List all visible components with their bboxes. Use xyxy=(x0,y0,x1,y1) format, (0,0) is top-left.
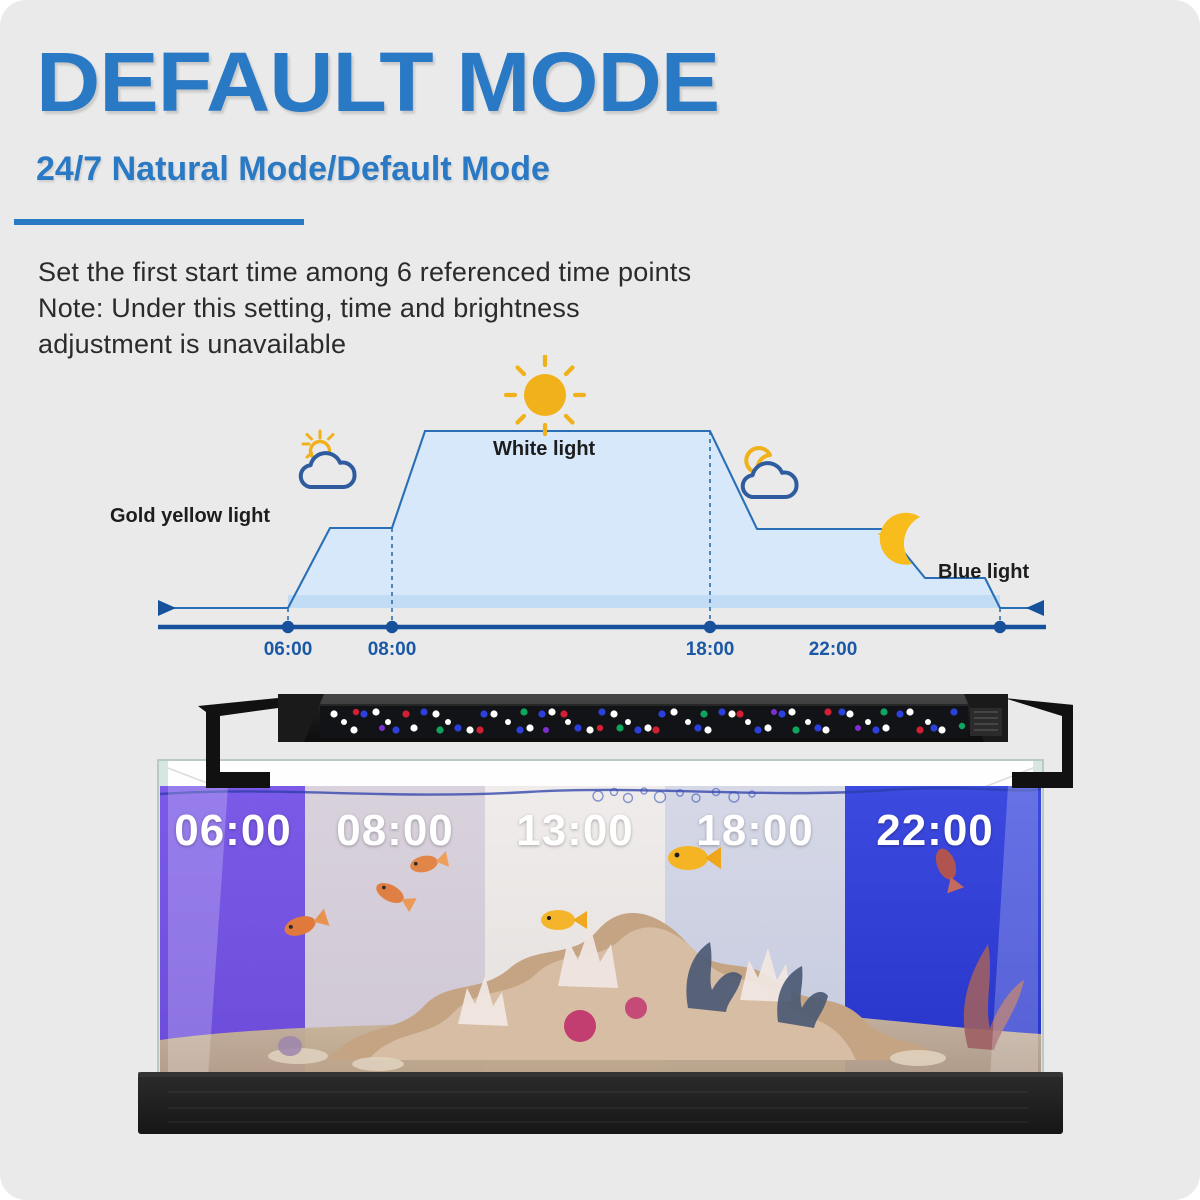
bracket-right xyxy=(1004,698,1073,788)
description-block: Set the first start time among 6 referen… xyxy=(38,255,898,363)
water-lighting-bands xyxy=(160,786,1041,1078)
tank-base-stand xyxy=(138,1072,1063,1134)
bracket-left xyxy=(198,698,278,788)
area-base-strip xyxy=(288,595,1000,608)
sun-icon xyxy=(506,356,584,434)
tick-dot-end xyxy=(994,621,1006,633)
tick-dot-0800 xyxy=(386,621,398,633)
chart-annotation-gold-yellow-light: Gold yellow light xyxy=(110,505,270,528)
infographic-page: DEFAULT MODE 24/7 Natural Mode/Default M… xyxy=(0,0,1200,1200)
sun-cloud-icon xyxy=(301,431,355,487)
baseline-left-arrow-icon xyxy=(158,600,176,616)
description-line-1: Set the first start time among 6 referen… xyxy=(38,255,898,291)
page-title: DEFAULT MODE xyxy=(36,40,719,124)
tick-dot-1800 xyxy=(704,621,716,633)
moon-cloud-icon xyxy=(743,448,797,497)
chart-annotation-blue-light: Blue light xyxy=(938,561,1029,584)
x-tick-label-1800: 18:00 xyxy=(686,639,735,661)
x-tick-label-0800: 08:00 xyxy=(368,639,417,661)
title-underline-rule xyxy=(14,219,304,225)
baseline-right-arrow-icon xyxy=(1026,600,1044,616)
aquarium-canvas xyxy=(128,668,1073,1168)
description-line-2: Note: Under this setting, time and brigh… xyxy=(38,291,898,327)
pink-coral xyxy=(564,1010,596,1042)
x-tick-label-0600: 06:00 xyxy=(264,639,313,661)
tick-dot-0600 xyxy=(282,621,294,633)
aquarium-photo: 06:00 08:00 13:00 18:00 22:00 xyxy=(128,668,1073,1168)
brightness-timeline-chart: Gold yellow light White light Blue light… xyxy=(0,355,1200,665)
snail xyxy=(278,1036,302,1056)
x-tick-label-2200: 22:00 xyxy=(809,639,858,661)
page-subtitle: 24/7 Natural Mode/Default Mode xyxy=(36,152,550,186)
chart-annotation-white-light: White light xyxy=(493,438,595,461)
pink-coral-2 xyxy=(625,997,647,1019)
